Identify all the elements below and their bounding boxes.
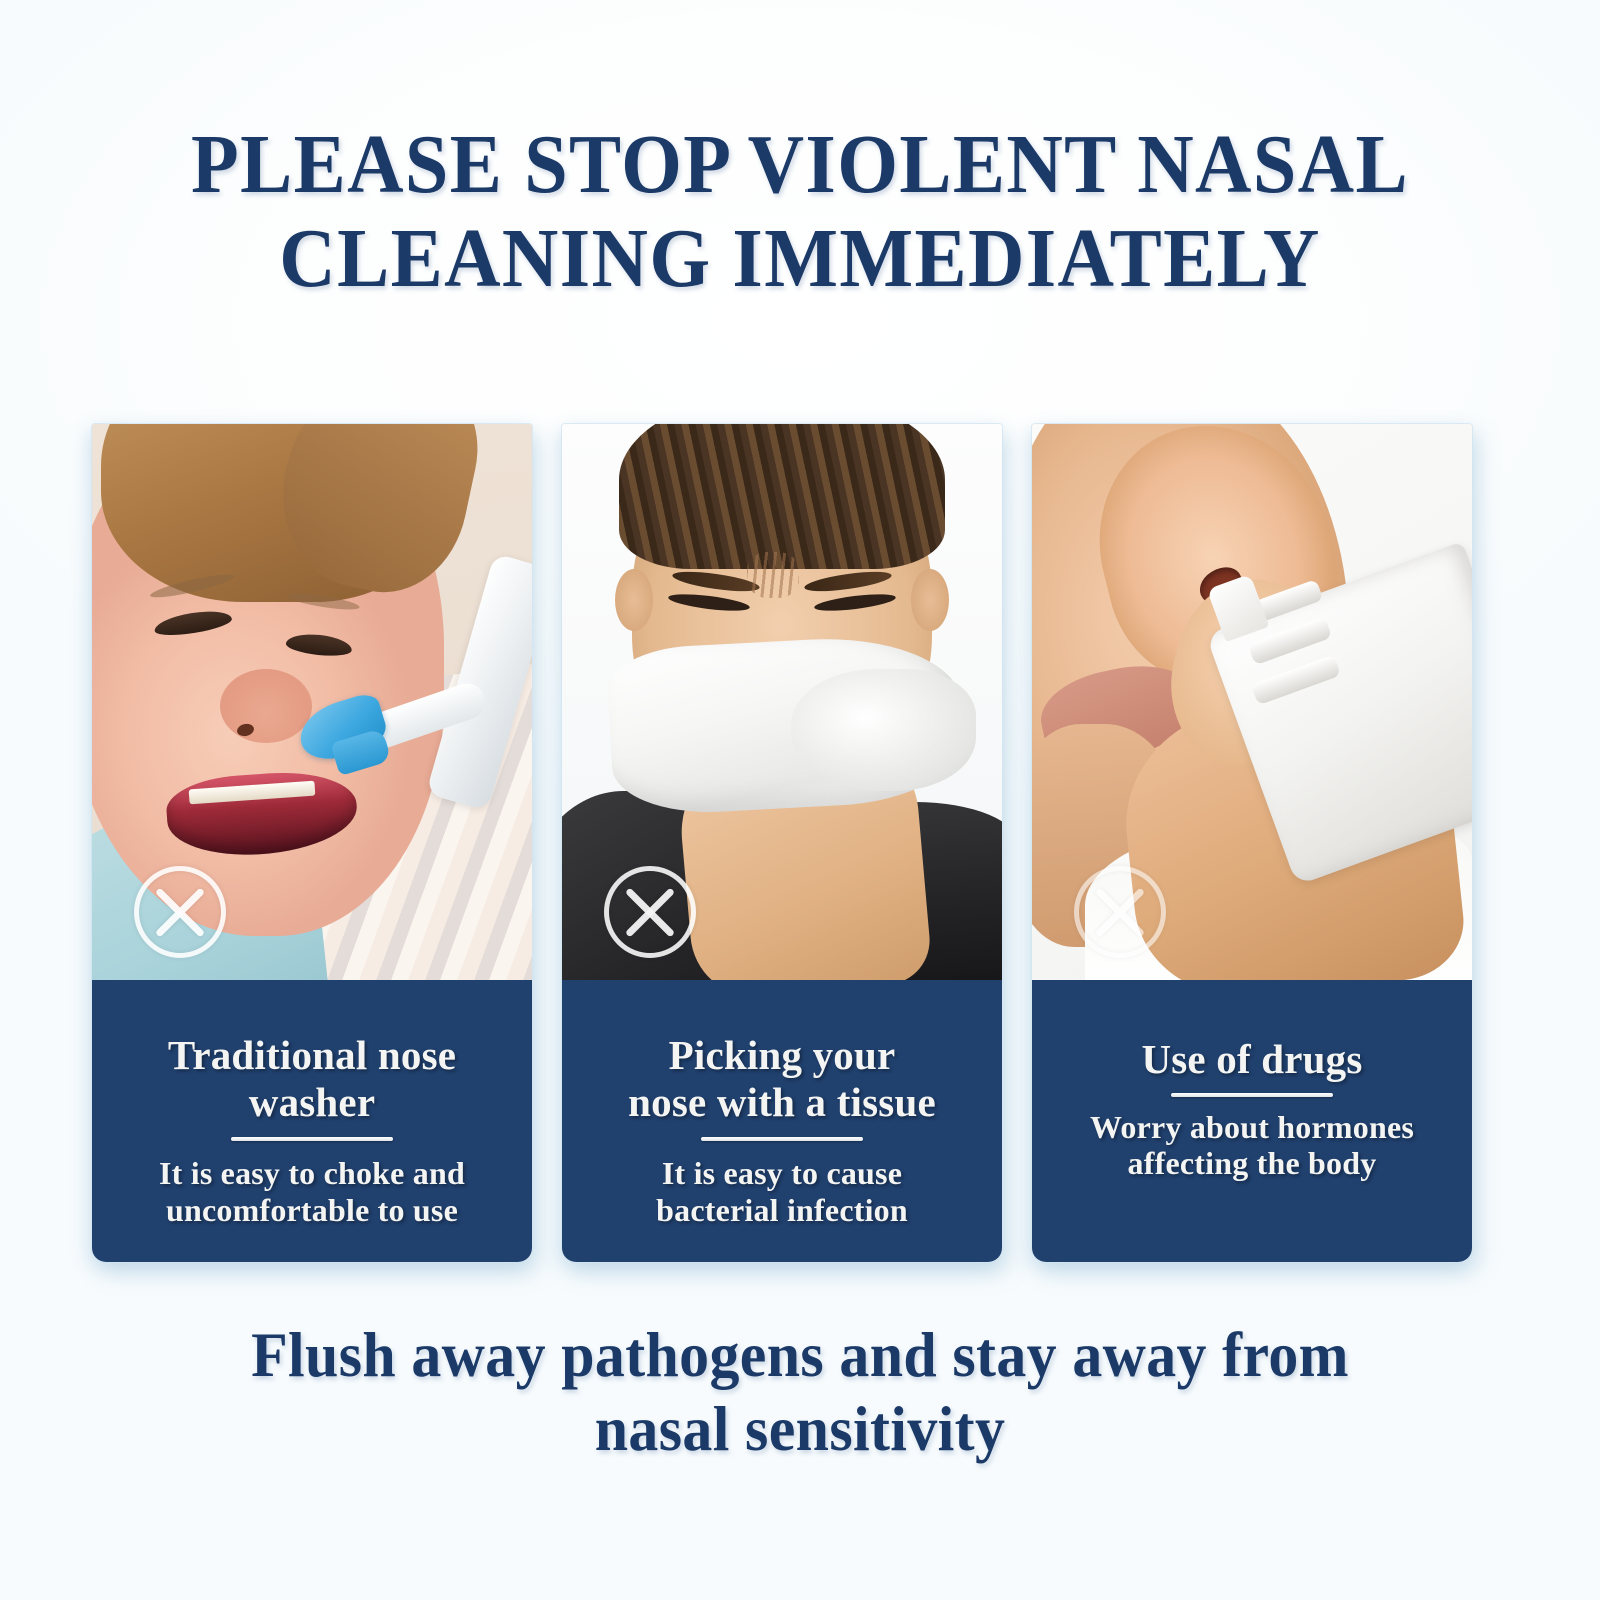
x-mark-icon — [134, 866, 226, 958]
man-left-ear-shape — [615, 569, 653, 631]
card-photo-use-of-drugs — [1032, 424, 1472, 980]
page-title: PLEASE STOP VIOLENT NASAL CLEANING IMMED… — [112, 118, 1488, 306]
card-subtitle: It is easy to cause bacterial infection — [656, 1155, 908, 1228]
x-mark-icon — [604, 866, 696, 958]
man-right-ear-shape — [911, 569, 949, 631]
card-subtitle: It is easy to choke and uncomfortable to… — [159, 1155, 465, 1228]
caption-divider — [701, 1137, 863, 1141]
card-caption-picking-nose-with-tissue: Picking your nose with a tissue It is ea… — [562, 980, 1002, 1262]
card-title: Traditional nose washer — [168, 980, 456, 1125]
warning-card-use-of-drugs[interactable]: Use of drugs Worry about hormones affect… — [1032, 424, 1472, 1262]
card-photo-traditional-nose-washer — [92, 424, 532, 980]
caption-divider — [231, 1137, 393, 1141]
man-nose-wrinkles-shape — [747, 552, 799, 598]
card-caption-traditional-nose-washer: Traditional nose washer It is easy to ch… — [92, 980, 532, 1262]
warning-card-picking-nose-with-tissue[interactable]: Picking your nose with a tissue It is ea… — [562, 424, 1002, 1262]
infographic-poster: PLEASE STOP VIOLENT NASAL CLEANING IMMED… — [0, 0, 1600, 1600]
caption-divider — [1171, 1093, 1333, 1097]
x-mark-icon — [1074, 866, 1166, 958]
card-photo-picking-nose-with-tissue — [562, 424, 1002, 980]
man-hair-shape — [619, 424, 945, 569]
card-title: Use of drugs — [1141, 980, 1362, 1083]
card-caption-use-of-drugs: Use of drugs Worry about hormones affect… — [1032, 980, 1472, 1262]
warning-card-traditional-nose-washer[interactable]: Traditional nose washer It is easy to ch… — [92, 424, 532, 1262]
card-subtitle: Worry about hormones affecting the body — [1090, 1109, 1414, 1182]
footer-tagline: Flush away pathogens and stay away from … — [164, 1318, 1437, 1467]
child-nose-shape — [220, 669, 312, 743]
card-title: Picking your nose with a tissue — [628, 980, 936, 1125]
warning-card-row: Traditional nose washer It is easy to ch… — [92, 424, 1472, 1262]
tissue-crumple-shape — [791, 669, 976, 791]
